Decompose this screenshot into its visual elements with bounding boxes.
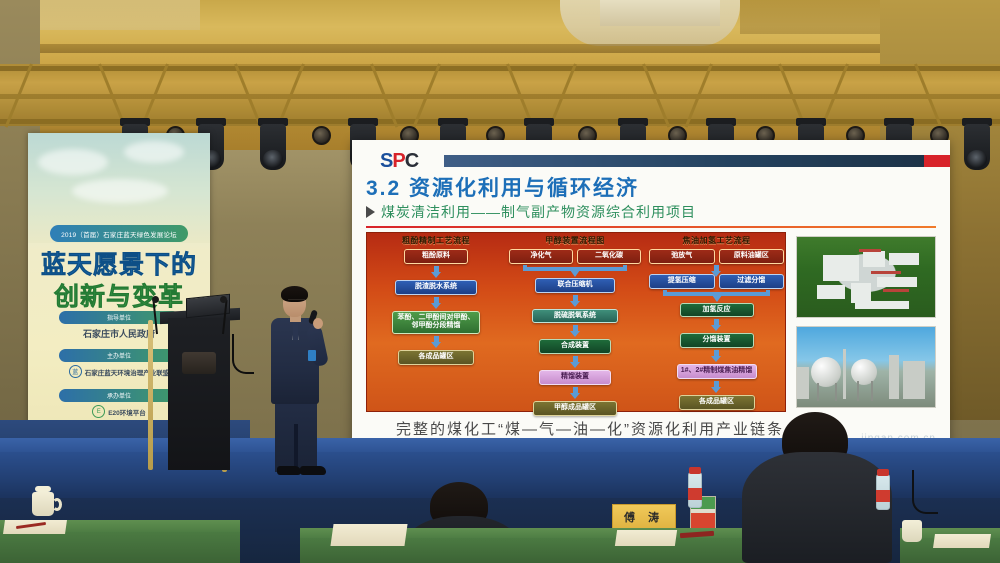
flow-box: 分馏装置: [680, 333, 754, 348]
process-flow-panel: 粗酚精制工艺流程 粗酚原料 脱渣脱水系统 苯酚、二甲酚间对甲酚、邻甲酚分段精馏 …: [366, 232, 786, 412]
stage-light: [260, 124, 286, 170]
speaker-hand: [313, 318, 323, 329]
flow-merge-icon: [509, 265, 641, 277]
speaker-glasses-icon: [288, 299, 305, 303]
bottle-cap: [689, 467, 701, 474]
flow-arrow-icon: [432, 266, 441, 278]
banner-event-chip: 2019（首届）石家庄蓝天绿色发展论坛: [50, 225, 188, 242]
flow-arrow-icon: [571, 295, 580, 307]
sphere-tank: [851, 359, 877, 385]
spc-logo: SPC: [380, 150, 418, 173]
cable: [232, 334, 254, 374]
slide-subtitle-row: 煤炭清洁利用——制气副产物资源综合利用项目: [366, 202, 696, 222]
flow-column-title: 粗酚精制工艺流程: [370, 235, 502, 246]
banner-cloud: [72, 179, 168, 203]
lighting-truss: [0, 64, 1000, 126]
flow-box: 甲醇成品罐区: [533, 401, 617, 416]
note-paper: [330, 524, 407, 546]
placard-name-text: 傅 涛: [624, 509, 664, 525]
host-logo-icon: 蓝: [69, 365, 82, 378]
speaker-shoe: [277, 466, 301, 475]
spherical-tanks-photo: [796, 326, 936, 408]
flow-arrow-icon: [432, 336, 441, 348]
flow-input-pair: 弛放气 原料油罐区: [649, 249, 784, 264]
speaker-tie: [293, 322, 298, 340]
flow-box: 苯酚、二甲酚间对甲酚、邻甲酚分段精馏: [392, 311, 480, 335]
e20-logo-icon: E: [92, 405, 105, 418]
flow-box: 各成品罐区: [679, 395, 755, 410]
flow-arrow-icon: [712, 350, 721, 362]
bullet-triangle-icon: [366, 206, 375, 218]
flow-arrow-icon: [712, 381, 721, 393]
flow-box: 弛放气: [649, 249, 715, 264]
microphone-head-icon: [152, 296, 159, 303]
banner-headline-line2: 创新与变革: [34, 277, 204, 313]
flow-merge-icon: [649, 290, 784, 302]
flow-arrow-icon: [712, 265, 721, 273]
ceiling-panel: [600, 0, 720, 26]
org-role-label: 主办单位: [59, 349, 179, 362]
flow-box: 粗酚原料: [404, 249, 468, 264]
org-name-label: E20环境平台: [108, 407, 146, 417]
tea-cup-lid: [35, 486, 51, 492]
speaker-leg-gap: [294, 424, 298, 472]
microphone-head-icon: [220, 296, 227, 303]
banner-headline-line1: 蓝天愿景下的: [34, 245, 204, 281]
flow-column-tar-hydrogenation: 焦油加氢工艺流程 弛放气 原料油罐区 提氢压缩 过滤分馏 加氢反应 分馏装置 1…: [649, 235, 784, 411]
flow-box: 精馏装置: [539, 370, 611, 385]
ceiling-beam: [0, 44, 1000, 53]
conference-photo-scene: 2019（首届）石家庄蓝天绿色发展论坛 蓝天愿景下的 创新与变革 指导单位 石家…: [0, 0, 1000, 563]
header-bar-accent: [924, 155, 950, 167]
flow-box: 过滤分馏: [719, 274, 785, 289]
projection-screen: SPC 3.2 资源化利用与循环经济 煤炭清洁利用——制气副产物资源综合利用项目…: [352, 140, 950, 452]
par-light: [312, 126, 331, 145]
header-bar: [444, 155, 924, 167]
lectern-crest-icon: [182, 352, 216, 374]
note-paper: [933, 534, 991, 548]
flow-box: 各成品罐区: [398, 350, 474, 365]
bottle-label: [688, 488, 702, 500]
flow-column-crude-phenol: 粗酚精制工艺流程 粗酚原料 脱渣脱水系统 苯酚、二甲酚间对甲酚、邻甲酚分段精馏 …: [370, 235, 502, 411]
flow-box: 联合压缩机: [535, 278, 615, 293]
flow-arrow-icon: [432, 297, 441, 309]
flow-box: 1#、2#精制煤焦油精馏: [677, 364, 757, 379]
slide-subtitle: 煤炭清洁利用——制气副产物资源综合利用项目: [381, 202, 696, 222]
org-name-label: 石家庄蓝天环境治理产业联盟: [85, 367, 170, 377]
flow-box: 原料油罐区: [719, 249, 785, 264]
tea-cup-handle: [52, 498, 62, 511]
aerial-plant-photo: [796, 236, 936, 318]
note-paper: [3, 520, 67, 534]
tea-cup: [902, 520, 922, 542]
spc-logo-c: C: [405, 150, 418, 172]
spc-logo-s: S: [380, 150, 392, 172]
org-role-label: 承办单位: [59, 389, 179, 402]
flow-box: 提氢压缩: [649, 274, 715, 289]
flow-column-methanol: 甲醇装置流程图 净化气 二氧化碳 联合压缩机 脱硫脱氧系统 合成装置 精馏装置 …: [509, 235, 641, 411]
speaker-shoe: [300, 466, 326, 475]
bottle-cap: [877, 469, 889, 476]
stage-light: [964, 124, 990, 170]
slide-title: 3.2 资源化利用与循环经济: [366, 172, 639, 202]
lectern: [168, 318, 230, 470]
flow-box: 脱渣脱水系统: [395, 280, 477, 295]
flow-box: 二氧化碳: [577, 249, 641, 264]
flow-arrow-icon: [712, 319, 721, 331]
speaker-badge: [308, 350, 316, 361]
bottle-label: [876, 490, 890, 502]
banner-cloud: [124, 141, 184, 163]
banner-cloud: [38, 149, 108, 175]
flow-box: 净化气: [509, 249, 573, 264]
title-divider: [366, 226, 936, 228]
foreground-table: [0, 532, 240, 563]
flow-input-pair: 净化气 二氧化碳: [509, 249, 641, 264]
audience-body: [742, 452, 892, 563]
spc-logo-p: P: [392, 150, 404, 172]
flow-arrow-icon: [571, 356, 580, 368]
flow-box: 加氢反应: [680, 303, 754, 318]
decor-pole: [148, 320, 153, 470]
flow-box: 脱硫脱氧系统: [532, 309, 618, 324]
tea-cup: [32, 492, 54, 516]
flow-arrow-icon: [571, 325, 580, 337]
note-paper: [615, 530, 677, 546]
flow-arrow-icon: [571, 387, 580, 399]
flow-column-title: 焦油加氢工艺流程: [649, 235, 784, 246]
cable: [912, 470, 938, 514]
flow-box: 合成装置: [539, 339, 611, 354]
name-placard[interactable]: 傅 涛: [612, 504, 676, 530]
flow-column-title: 甲醇装置流程图: [509, 235, 641, 246]
